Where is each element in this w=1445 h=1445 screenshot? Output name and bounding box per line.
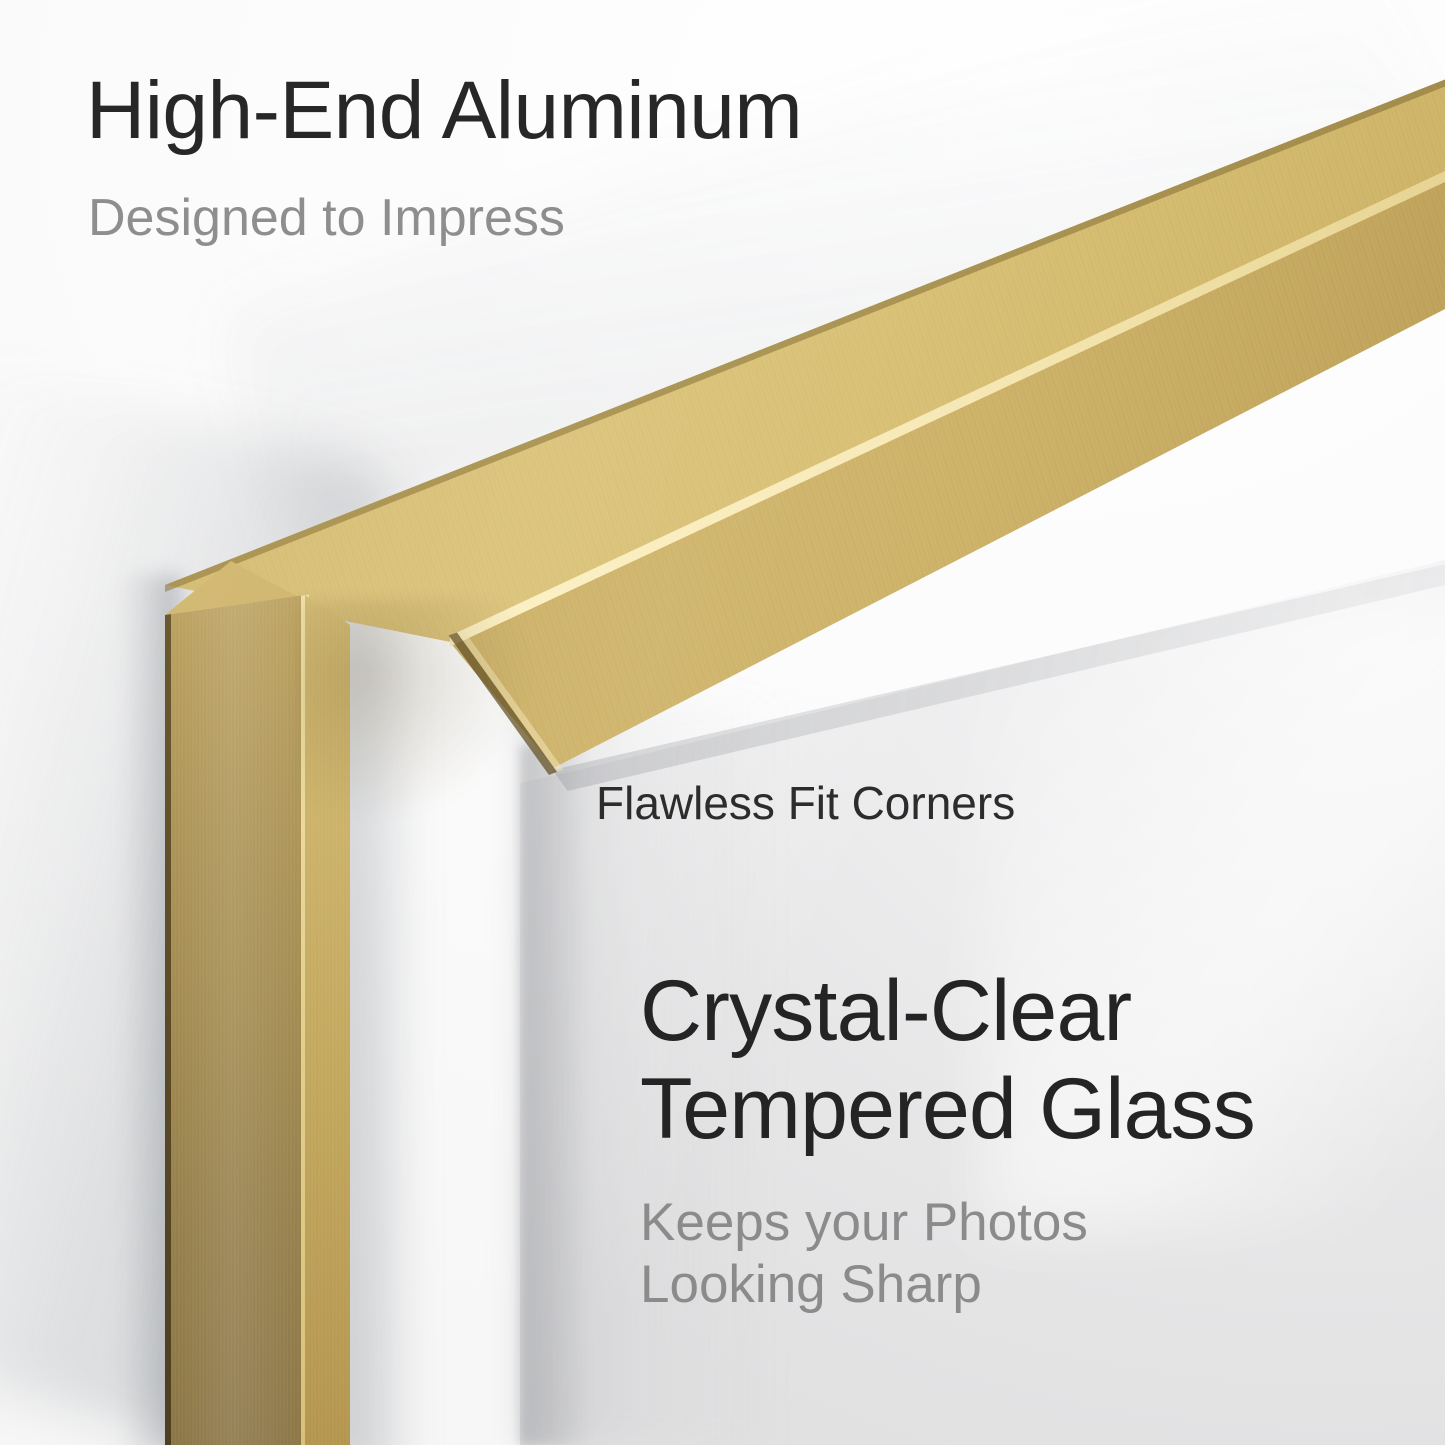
frame-drop-shadow-left bbox=[0, 363, 390, 1445]
page-subtitle: Designed to Impress bbox=[88, 190, 565, 247]
frame-contact-shadow bbox=[120, 575, 180, 1445]
callout-glass-subtitle-line-1: Keeps your Photos bbox=[640, 1192, 1088, 1254]
callout-flawless-fit-corners: Flawless Fit Corners bbox=[596, 778, 1015, 829]
callout-glass-subtitle: Keeps your Photos Looking Sharp bbox=[640, 1192, 1088, 1316]
page-title: High-End Aluminum bbox=[86, 68, 802, 153]
callout-glass-title-line-2: Tempered Glass bbox=[640, 1060, 1255, 1158]
product-feature-image: High-End Aluminum Designed to Impress Fl… bbox=[0, 0, 1445, 1445]
callout-glass-title: Crystal-Clear Tempered Glass bbox=[640, 962, 1255, 1158]
callout-glass-title-line-1: Crystal-Clear bbox=[640, 962, 1255, 1060]
callout-glass-subtitle-line-2: Looking Sharp bbox=[640, 1254, 1088, 1316]
